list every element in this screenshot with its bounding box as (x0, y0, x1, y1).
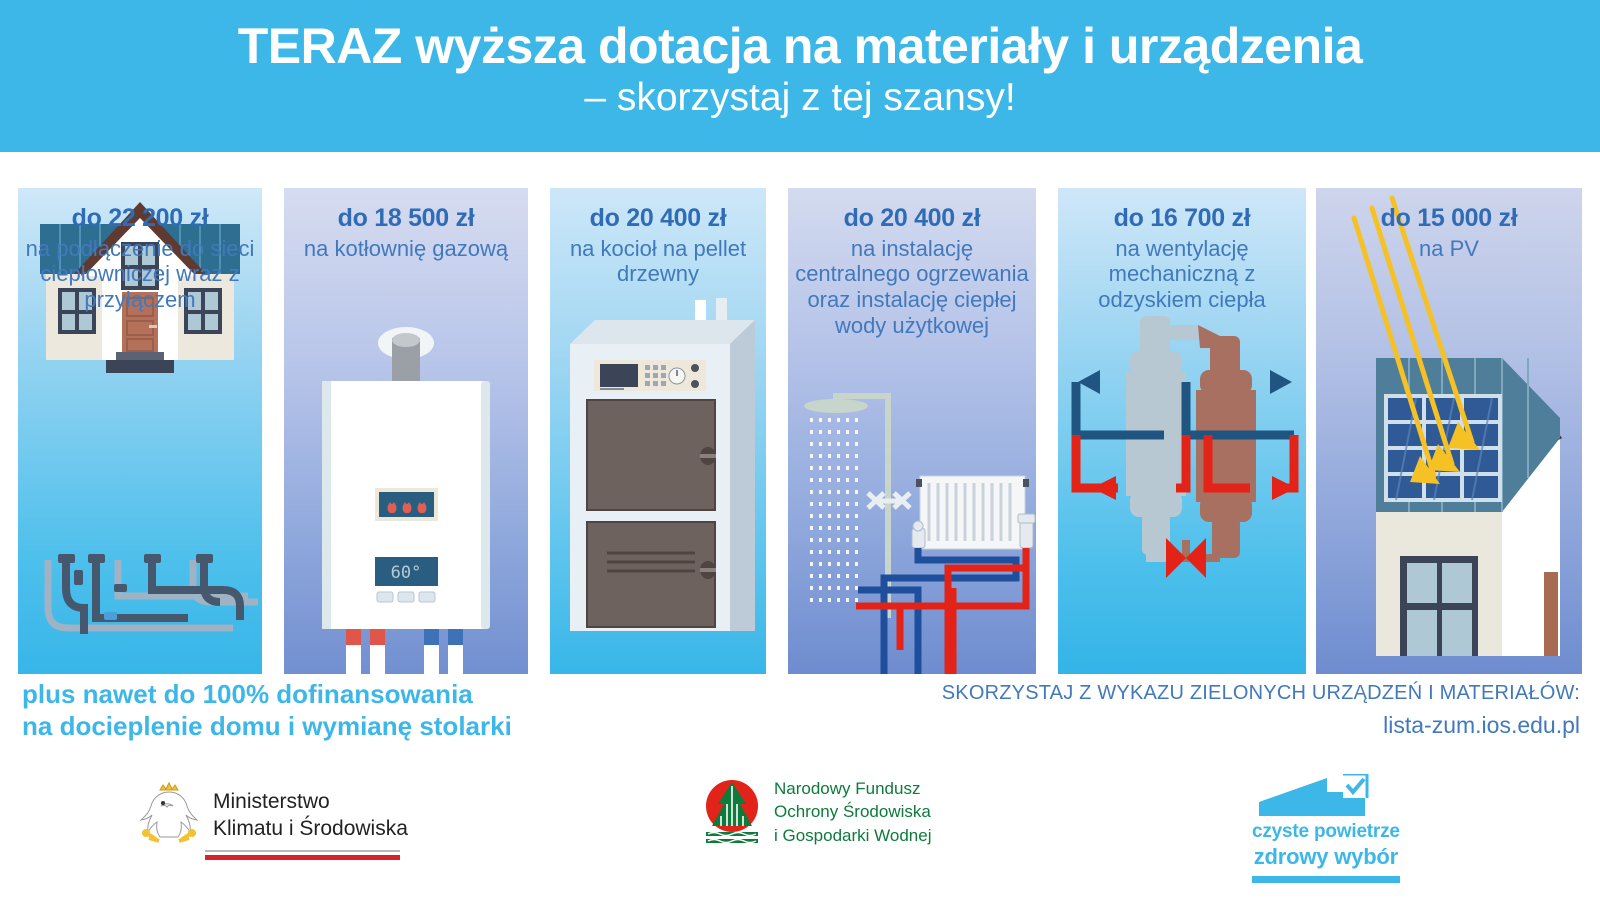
header-banner: TERAZ wyższa dotacja na materiały i urzą… (0, 0, 1600, 152)
polish-eagle-emblem-icon (135, 776, 203, 856)
subsidy-card-central-heating-hot-water[interactable]: do 20 400 zł na instalację centralnego o… (788, 188, 1036, 674)
card-amount: do 20 400 zł (794, 204, 1030, 234)
list-url-link[interactable]: lista-zum.ios.edu.pl (940, 711, 1580, 741)
list-note-caption: SKORZYSTAJ Z WYKAZU ZIELONYCH URZĄDZEŃ I… (940, 680, 1580, 706)
card-amount: do 16 700 zł (1064, 204, 1300, 234)
card-description: na wentylację mechaniczną z odzyskiem ci… (1064, 236, 1300, 314)
clean-air-line-1: czyste powietrze (1252, 821, 1400, 843)
ministry-line-2: Klimatu i Środowiska (213, 816, 408, 843)
additional-funding-note: plus nawet do 100% dofinansowania na doc… (22, 678, 722, 742)
subsidy-card-pellet-boiler[interactable]: do 20 400 zł na kocioł na pellet drzewny (550, 188, 766, 674)
funding-note-line-1: plus nawet do 100% dofinansowania (22, 678, 722, 710)
clean-air-rule (1252, 876, 1400, 883)
ministry-gray-rule (205, 850, 400, 852)
card-header: do 15 000 zł na PV (1316, 188, 1582, 261)
card-header: do 18 500 zł na kotłownię gazową (284, 188, 528, 261)
fund-line-2: Ochrony Środowiska (774, 800, 932, 823)
card-amount: do 15 000 zł (1322, 204, 1576, 234)
ministry-name: Ministerstwo Klimatu i Środowiska (213, 789, 408, 843)
footer-logo-bar: Ministerstwo Klimatu i Środowiska (0, 760, 1600, 900)
card-amount: do 20 400 zł (556, 204, 760, 234)
subsidy-card-photovoltaics[interactable]: do 15 000 zł na PV (1316, 188, 1582, 674)
fund-name: Narodowy Fundusz Ochrony Środowiska i Go… (774, 777, 932, 847)
card-header: do 16 700 zł na wentylację mechaniczną z… (1058, 188, 1306, 313)
subsidy-card-row: do 22 200 zł na podłączenie do sieci cie… (0, 188, 1600, 674)
ministry-rule-lines (205, 850, 400, 860)
ministry-line-1: Ministerstwo (213, 789, 408, 816)
logo-ministry-of-climate: Ministerstwo Klimatu i Środowiska (135, 776, 408, 856)
logo-clean-air-program: czyste powietrze zdrowy wybór (1252, 774, 1400, 883)
card-description: na kocioł na pellet drzewny (556, 236, 760, 288)
card-amount: do 18 500 zł (290, 204, 522, 234)
fund-line-3: i Gospodarki Wodnej (774, 824, 932, 847)
house-with-checkmark-icon (1253, 774, 1398, 816)
subsidy-card-mechanical-ventilation[interactable]: do 16 700 zł na wentylację mechaniczną z… (1058, 188, 1306, 674)
subsidy-card-gas-boiler[interactable]: do 18 500 zł na kotłownię gazową 60° (284, 188, 528, 674)
page-title: TERAZ wyższa dotacja na materiały i urzą… (0, 0, 1600, 73)
card-header: do 20 400 zł na instalację centralnego o… (788, 188, 1036, 339)
clean-air-line-2: zdrowy wybór (1252, 844, 1400, 870)
card-header: do 22 200 zł na podłączenie do sieci cie… (18, 188, 262, 313)
card-description: na kotłownię gazową (290, 236, 522, 262)
fund-line-1: Narodowy Fundusz (774, 777, 932, 800)
nfosigw-tree-logo-icon (700, 774, 764, 850)
card-amount: do 22 200 zł (24, 204, 256, 234)
card-description: na instalację centralnego ogrzewania ora… (794, 236, 1030, 340)
card-description: na PV (1322, 236, 1576, 262)
funding-note-line-2: na docieplenie domu i wymianę stolarki (22, 710, 722, 742)
ministry-red-rule (205, 855, 400, 860)
subsidy-card-district-heating[interactable]: do 22 200 zł na podłączenie do sieci cie… (18, 188, 262, 674)
green-device-list-note: SKORZYSTAJ Z WYKAZU ZIELONYCH URZĄDZEŃ I… (940, 680, 1580, 741)
boiler-temperature-display: 60° (391, 563, 422, 583)
card-header: do 20 400 zł na kocioł na pellet drzewny (550, 188, 766, 287)
logo-national-fund: Narodowy Fundusz Ochrony Środowiska i Go… (700, 774, 932, 850)
card-description: na podłączenie do sieci ciepłowniczej wr… (24, 236, 256, 314)
page-subtitle: – skorzystaj z tej szansy! (0, 73, 1600, 120)
